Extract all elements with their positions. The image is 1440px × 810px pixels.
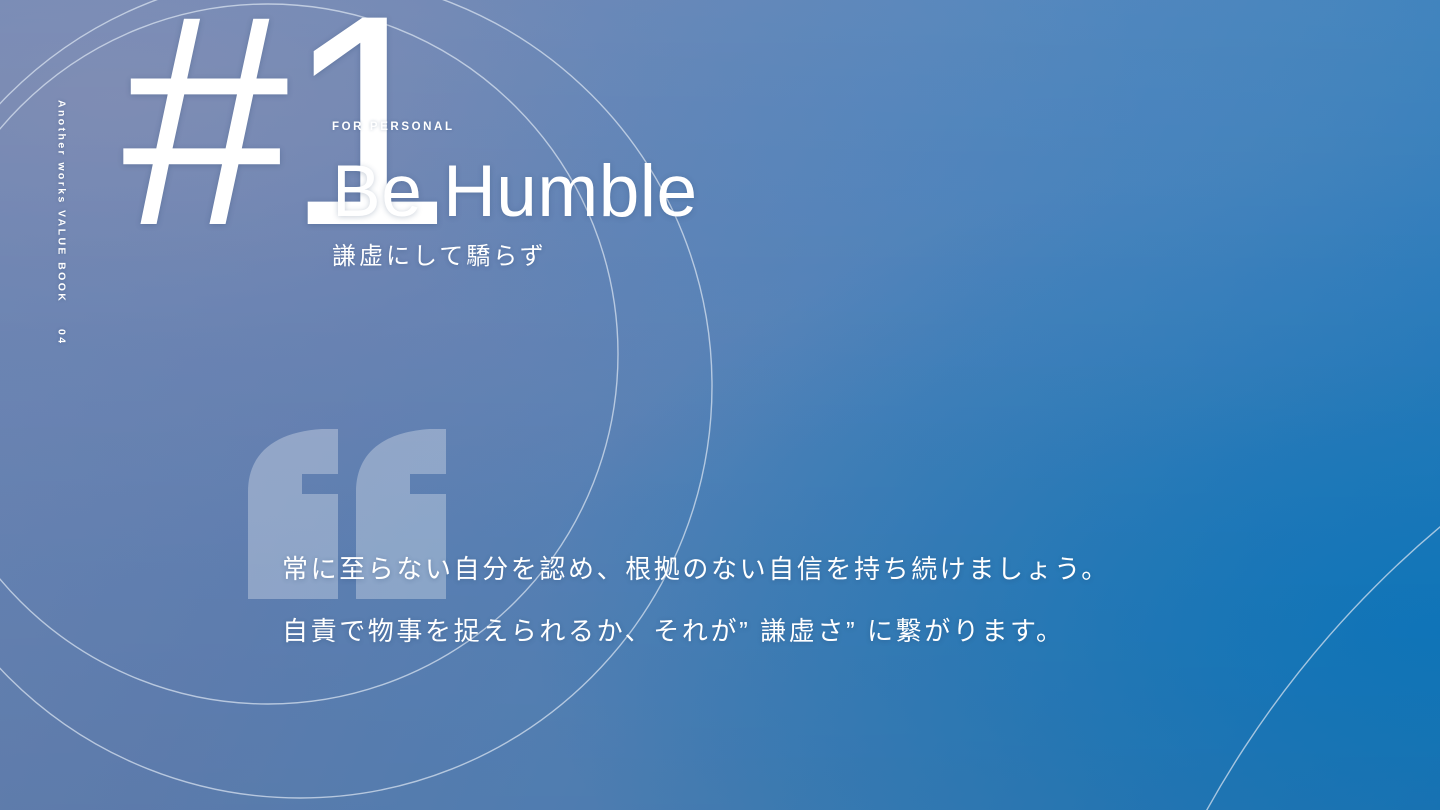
- body-copy-line-1: 常に至らない自分を認め、根拠のない自信を持ち続けましょう。: [282, 556, 1110, 582]
- headline-block: FOR PERSONAL Be Humble 謙虚にして驕らず: [332, 122, 698, 272]
- body-copy: 常に至らない自分を認め、根拠のない自信を持ち続けましょう。 自責で物事を捉えられ…: [282, 556, 1110, 644]
- body-copy-line-2: 自責で物事を捉えられるか、それが” 謙虚さ” に繋がります。: [282, 618, 1110, 644]
- page-subtitle: 謙虚にして驕らず: [332, 243, 698, 272]
- slide-root: Another works VALUE BOOK 04 #1 FOR PERSO…: [0, 0, 1440, 810]
- spine-caption-label: Another works VALUE BOOK: [56, 100, 68, 303]
- spine-caption: Another works VALUE BOOK 04: [56, 100, 67, 345]
- eyebrow-label: FOR PERSONAL: [332, 122, 698, 134]
- spine-caption-number: 04: [56, 329, 67, 345]
- page-title: Be Humble: [332, 154, 698, 230]
